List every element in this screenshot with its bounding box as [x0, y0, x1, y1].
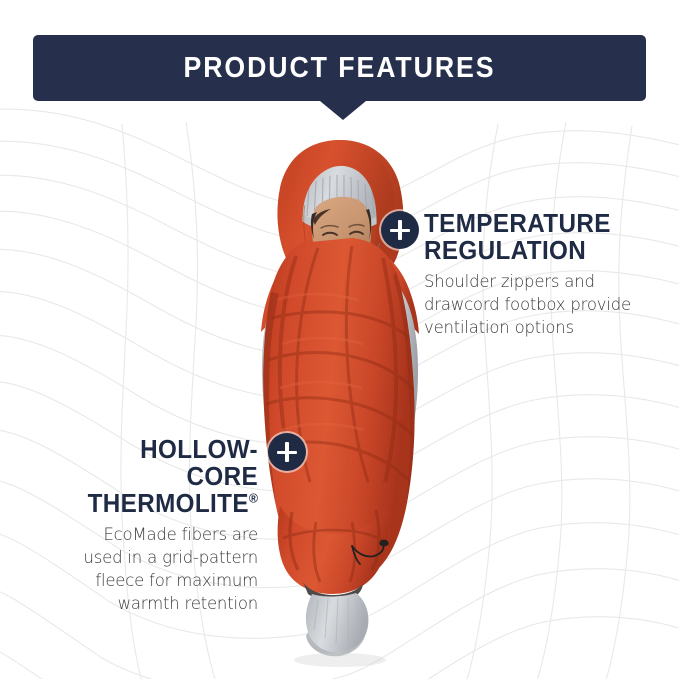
- registered-trademark-icon: ®: [249, 491, 258, 506]
- plus-icon-vertical-bar: [285, 442, 288, 462]
- feature-body-temperature-regulation: Shoulder zippers and drawcord footbox pr…: [424, 270, 659, 339]
- product-features-infographic: PRODUCT FEATURES: [0, 0, 679, 679]
- banner-notch-triangle: [320, 101, 366, 120]
- feature-callout-temperature-regulation: TEMPERATURE REGULATION Shoulder zippers …: [424, 211, 659, 339]
- feature-heading-text: HOLLOW-CORE: [140, 436, 258, 491]
- header-banner: PRODUCT FEATURES: [33, 35, 646, 101]
- plus-icon-temperature-regulation[interactable]: [381, 211, 419, 249]
- feature-callout-hollow-core-thermolite: HOLLOW-CORETHERMOLITE® EcoMade fibers ar…: [62, 437, 258, 615]
- feature-heading-temperature-regulation: TEMPERATURE REGULATION: [424, 211, 647, 265]
- plus-icon-vertical-bar: [398, 220, 401, 240]
- plus-icon-hollow-core-thermolite[interactable]: [268, 433, 306, 471]
- feature-body-hollow-core-thermolite: EcoMade fibers are used in a grid-patter…: [62, 523, 258, 615]
- feature-heading-hollow-core-thermolite: HOLLOW-CORETHERMOLITE®: [72, 437, 258, 518]
- feature-heading-text-line2: THERMOLITE: [88, 490, 249, 518]
- page-title: PRODUCT FEATURES: [58, 35, 622, 101]
